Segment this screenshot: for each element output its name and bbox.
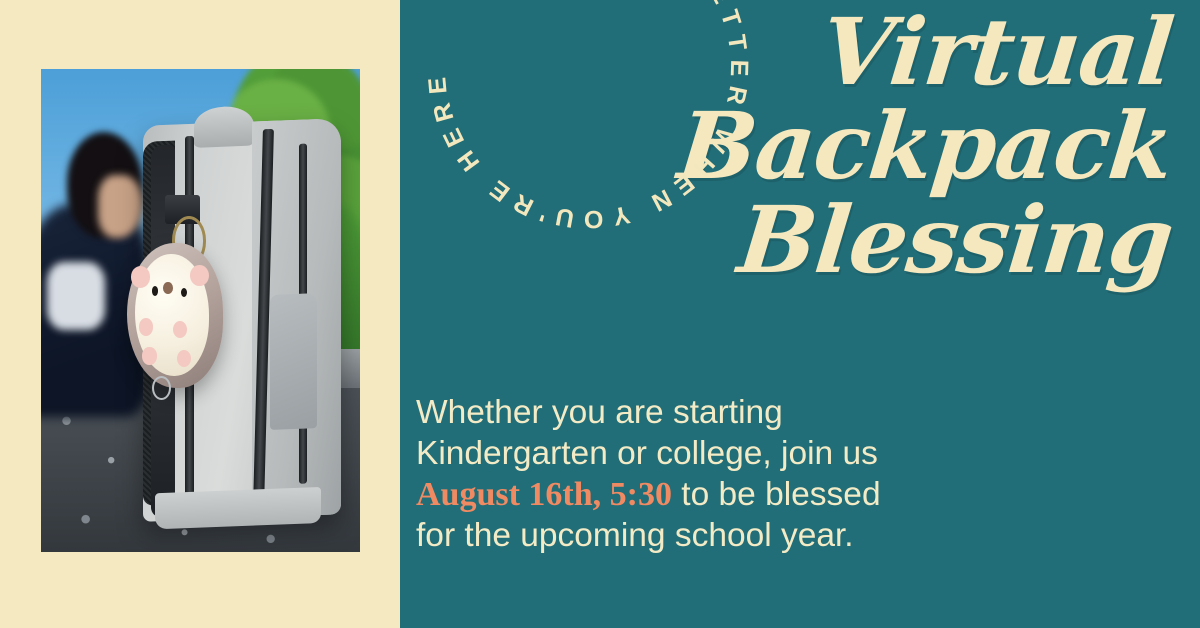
- hedgehog-ear-left: [131, 266, 150, 288]
- circular-tagline-text: IT'S BETTER WHEN YOU'RE HERE: [423, 0, 754, 233]
- hedgehog-eye-left: [152, 286, 158, 295]
- hedgehog-plush-keychain: [127, 243, 223, 388]
- poster-canvas: IT'S BETTER WHEN YOU'RE HERE Virtual Bac…: [0, 0, 1200, 628]
- blurred-person-shirt: [47, 262, 104, 330]
- backpack-base: [155, 487, 321, 529]
- body-paragraph: Whether you are starting Kindergarten or…: [416, 393, 886, 556]
- body-text-before: Whether you are starting Kindergarten or…: [416, 394, 878, 472]
- hedgehog-eye-right: [181, 288, 187, 297]
- hedgehog-paw: [139, 318, 153, 335]
- backpack-top-handle: [194, 106, 253, 148]
- hedgehog-paw: [142, 347, 156, 364]
- backpack-side-pocket: [270, 293, 317, 429]
- backpack-photo: [41, 69, 360, 552]
- body-copy-block: Whether you are starting Kindergarten or…: [416, 393, 886, 556]
- hedgehog-nose: [163, 282, 173, 294]
- event-date-time: August 16th, 5:30: [416, 476, 672, 513]
- circular-tagline-badge: IT'S BETTER WHEN YOU'RE HERE: [398, 0, 778, 258]
- photo-stage: [41, 69, 360, 552]
